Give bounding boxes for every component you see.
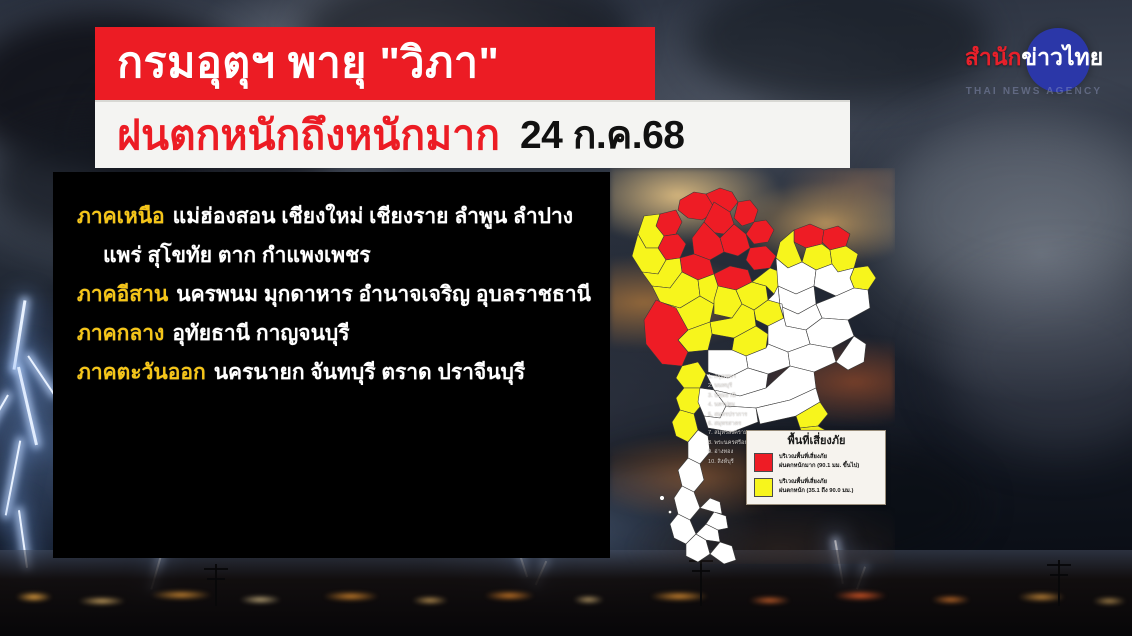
legend-line-2: ฝนตกหนักมาก (90.1 มม. ขึ้นไป) [779,462,859,471]
numbered-province-item: 2. นนทบุรี [708,382,758,391]
region-list-panel: ภาคเหนือแม่ฮ่องสอน เชียงใหม่ เชียงราย ลำ… [53,172,610,558]
power-pylon [215,564,217,606]
numbered-province-item: 1. กรุงเทพฯ [708,373,758,382]
legend-line-1: บริเวณพื้นที่เสี่ยงภัย [779,453,859,462]
region-provinces-continued: แพร่ สุโขทัย ตาก กำแพงเพชร [103,244,371,267]
province-white [700,498,722,514]
news-graphic-stage: กรมอุตุฯ พายุ "วิภา" ฝนตกหนักถึงหนักมาก … [0,0,1132,636]
power-pylon [1058,560,1060,606]
region-row-central: ภาคกลางอุทัยธานี กาญจนบุรี [77,323,590,344]
numbered-province-item: 3. ปทุมธานี [708,392,758,401]
province-red [746,220,774,244]
legend-row-heavy: บริเวณพื้นที่เสี่ยงภัย ฝนตกหนัก (35.1 ถึ… [754,478,879,497]
headline-line-2: ฝนตกหนักถึงหนักมาก [117,115,500,156]
region-provinces: นครนายก จันทบุรี ตราด ปราจีนบุรี [214,361,525,384]
legend-swatch-red [754,453,773,472]
region-label: ภาคเหนือ [77,205,165,228]
province-white [816,288,870,320]
region-row-east: ภาคตะวันออกนครนายก จันทบุรี ตราด ปราจีนบ… [77,362,590,383]
map-island [668,510,671,513]
legend-line-1: บริเวณพื้นที่เสี่ยงภัย [779,478,853,487]
headline-line-1: กรมอุตุฯ พายุ "วิภา" [117,42,499,85]
map-island [660,496,665,501]
legend-text-heavy: บริเวณพื้นที่เสี่ยงภัย ฝนตกหนัก (35.1 ถึ… [779,478,853,495]
region-row-north: ภาคเหนือแม่ฮ่องสอน เชียงใหม่ เชียงราย ลำ… [77,206,590,227]
headline-banner-primary: กรมอุตุฯ พายุ "วิภา" [95,27,655,100]
legend-row-extreme: บริเวณพื้นที่เสี่ยงภัย ฝนตกหนักมาก (90.1… [754,453,879,472]
province-red [746,246,776,270]
legend-swatch-yellow [754,478,773,497]
region-label: ภาคตะวันออก [77,361,206,384]
legend-text-extreme: บริเวณพื้นที่เสี่ยงภัย ฝนตกหนักมาก (90.1… [779,453,859,470]
region-provinces: อุทัยธานี กาญจนบุรี [172,322,349,345]
numbered-province-item: 6. สมุทรสาคร [708,420,758,429]
thailand-risk-map-panel: 1. กรุงเทพฯ 2. นนทบุรี 3. ปทุมธานี 4. นค… [610,168,895,564]
logo-word-red: สำนัก [965,44,1022,70]
numbered-province-item: 5. สมุทรปราการ [708,411,758,420]
logo-word-white: ข่าวไทย [1021,44,1103,70]
city-lights [0,580,1132,614]
headline-banner-secondary: ฝนตกหนักถึงหนักมาก 24 ก.ค.68 [95,100,850,168]
legend-line-2: ฝนตกหนัก (35.1 ถึง 90.0 มม.) [779,487,853,496]
region-provinces: แม่ฮ่องสอน เชียงใหม่ เชียงราย ลำพูน ลำปา… [173,205,573,228]
channel-logo[interactable]: สำนักข่าวไทย THAI NEWS AGENCY [948,28,1120,106]
region-label: ภาคกลาง [77,322,164,345]
numbered-province-item: 4. นครปฐม [708,401,758,410]
region-label: ภาคอีสาน [77,283,168,306]
map-legend: พื้นที่เสี่ยงภัย บริเวณพื้นที่เสี่ยงภัย … [746,430,886,505]
region-provinces: นครพนม มุกดาหาร อำนาจเจริญ อุบลราชธานี [176,283,591,306]
logo-wordmark: สำนักข่าวไทย [948,46,1120,69]
region-row-isan: ภาคอีสานนครพนม มุกดาหาร อำนาจเจริญ อุบลร… [77,284,590,305]
headline-date: 24 ก.ค.68 [520,116,684,155]
logo-subtitle: THAI NEWS AGENCY [948,86,1120,97]
region-row-north-continued: แพร่ สุโขทัย ตาก กำแพงเพชร [77,245,590,266]
legend-title: พื้นที่เสี่ยงภัย [754,436,879,447]
province-yellow [850,266,876,290]
province-white [710,542,736,564]
